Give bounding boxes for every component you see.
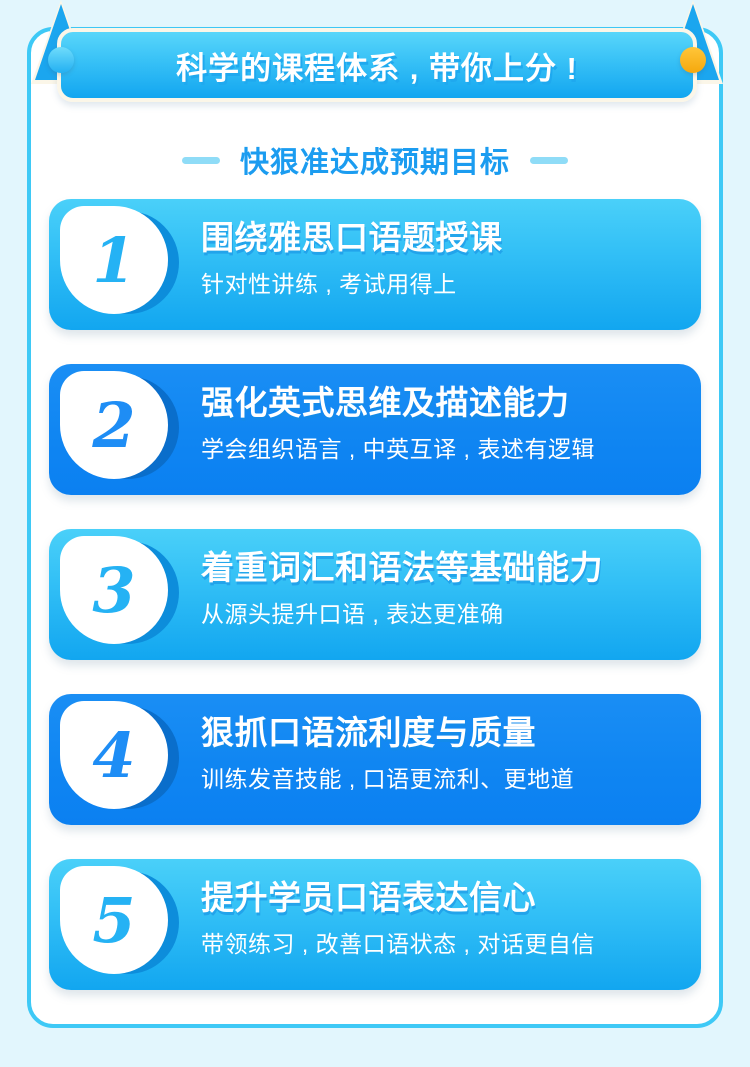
dash-right-icon [530,157,568,164]
ribbon-dot-right-icon [680,47,706,73]
card-text: 提升学员口语表达信心 带领练习 , 改善口语状态 , 对话更自信 [201,879,687,959]
card-text: 狠抓口语流利度与质量 训练发音技能 , 口语更流利、更地道 [201,714,687,794]
card-title: 强化英式思维及描述能力 [201,384,687,423]
feature-card[interactable]: 5 提升学员口语表达信心 带领练习 , 改善口语状态 , 对话更自信 [49,859,701,990]
card-title: 提升学员口语表达信心 [201,879,687,918]
feature-card[interactable]: 2 强化英式思维及描述能力 学会组织语言 , 中英互译 , 表述有逻辑 [49,364,701,495]
number-badge: 4 [60,701,177,818]
badge-number: 2 [60,371,168,479]
number-badge: 2 [60,371,177,488]
card-subtitle: 带领练习 , 改善口语状态 , 对话更自信 [201,925,687,959]
subtitle-text: 快狠准达成预期目标 [240,139,510,181]
feature-card-list: 1 围绕雅思口语题授课 针对性讲练 , 考试用得上 2 强化英式思维及描述能力 … [49,199,701,1024]
dash-left-icon [182,157,220,164]
number-badge: 3 [60,536,177,653]
badge-number: 1 [60,206,168,314]
banner-body: 科学的课程体系 , 带你上分 ! [57,28,697,102]
card-text: 着重词汇和语法等基础能力 从源头提升口语 , 表达更准确 [201,549,687,629]
card-text: 围绕雅思口语题授课 针对性讲练 , 考试用得上 [201,219,687,299]
ribbon-dot-left-icon [48,47,74,73]
feature-card[interactable]: 4 狠抓口语流利度与质量 训练发音技能 , 口语更流利、更地道 [49,694,701,825]
card-subtitle: 学会组织语言 , 中英互译 , 表述有逻辑 [201,430,687,464]
number-badge: 1 [60,206,177,323]
badge-number: 5 [60,866,168,974]
badge-number: 3 [60,536,168,644]
poster-frame: 科学的课程体系 , 带你上分 ! 快狠准达成预期目标 1 围绕雅思口语题授课 针… [27,27,723,1028]
section-subtitle: 快狠准达成预期目标 [31,139,719,181]
card-subtitle: 从源头提升口语 , 表达更准确 [201,595,687,629]
banner-ribbon: 科学的课程体系 , 带你上分 ! [27,4,727,104]
card-text: 强化英式思维及描述能力 学会组织语言 , 中英互译 , 表述有逻辑 [201,384,687,464]
number-badge: 5 [60,866,177,983]
card-subtitle: 针对性讲练 , 考试用得上 [201,265,687,299]
card-title: 狠抓口语流利度与质量 [201,714,687,753]
card-title: 围绕雅思口语题授课 [201,219,687,258]
feature-card[interactable]: 1 围绕雅思口语题授课 针对性讲练 , 考试用得上 [49,199,701,330]
card-subtitle: 训练发音技能 , 口语更流利、更地道 [201,760,687,794]
badge-number: 4 [60,701,168,809]
feature-card[interactable]: 3 着重词汇和语法等基础能力 从源头提升口语 , 表达更准确 [49,529,701,660]
card-title: 着重词汇和语法等基础能力 [201,549,687,588]
banner-title: 科学的课程体系 , 带你上分 ! [176,43,578,88]
